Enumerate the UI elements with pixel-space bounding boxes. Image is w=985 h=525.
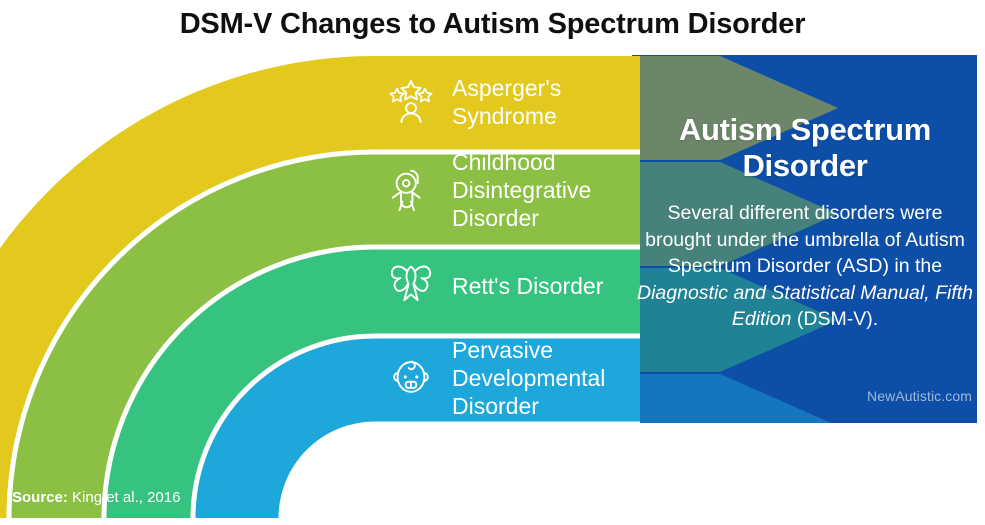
source-label: Source: <box>12 489 68 506</box>
child-figure-icon <box>388 167 434 213</box>
page-title: DSM-V Changes to Autism Spectrum Disorde… <box>0 8 985 41</box>
person-with-stars-icon <box>388 78 434 124</box>
source-citation: Source: King et al., 2016 <box>12 489 180 507</box>
asd-panel-body: Several different disorders were brought… <box>636 200 974 333</box>
asd-body-part2: (DSM-V). <box>791 308 878 330</box>
site-watermark: NewAutistic.com <box>867 388 972 404</box>
asd-body-part1: Several different disorders were brought… <box>645 202 965 277</box>
separator-inner-edge <box>281 424 640 518</box>
asd-panel-heading: Autism Spectrum Disorder <box>640 112 970 184</box>
baby-face-icon <box>388 353 434 399</box>
butterfly-ribbon-icon <box>388 258 434 304</box>
source-value: King et al., 2016 <box>68 489 181 506</box>
watermark-area: NewAutistic.com <box>600 370 980 422</box>
